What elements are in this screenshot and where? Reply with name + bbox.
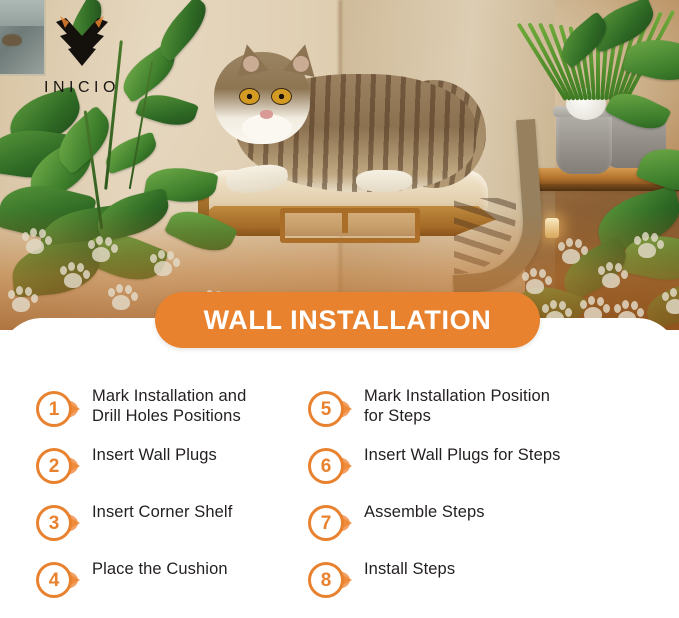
paw-print-icon: [556, 238, 586, 266]
badge-ring: 1: [36, 391, 72, 427]
step-label-line1: Assemble Steps: [364, 502, 485, 522]
step-item: 2Insert Wall Plugs: [0, 443, 302, 500]
step-number-badge: 8: [308, 562, 352, 600]
badge-ring: 3: [36, 505, 72, 541]
step-label: Place the Cushion: [80, 557, 228, 579]
paw-print-icon: [86, 236, 116, 264]
section-banner: WALL INSTALLATION: [155, 292, 540, 348]
step-label-line1: Install Steps: [364, 559, 455, 579]
cat-nose: [260, 110, 273, 119]
paw-print-icon: [520, 268, 550, 296]
cat-eye-right: [271, 88, 292, 105]
paw-print-icon: [6, 286, 36, 314]
badge-ring: 6: [308, 448, 344, 484]
cat-paw-front: [224, 162, 289, 196]
step-number: 5: [321, 400, 332, 419]
step-label-line1: Insert Wall Plugs: [92, 445, 217, 465]
brand-logo: INICIO: [36, 16, 128, 96]
step-number: 7: [321, 514, 332, 533]
step-label: Insert Wall Plugs for Steps: [352, 443, 561, 465]
badge-ring: 4: [36, 562, 72, 598]
paw-print-icon: [660, 288, 679, 316]
paw-print-icon: [148, 250, 178, 278]
step-number-badge: 1: [36, 391, 80, 429]
step-number: 6: [321, 457, 332, 476]
step-number-badge: 7: [308, 505, 352, 543]
cat-paw-rear: [356, 170, 412, 192]
step-item: 4Place the Cushion: [0, 557, 302, 614]
hero-photo: INICIO: [0, 0, 679, 330]
step-label: Assemble Steps: [352, 500, 485, 522]
brand-name: INICIO: [36, 79, 128, 97]
step-label: Insert Corner Shelf: [80, 500, 232, 522]
paw-print-icon: [58, 262, 88, 290]
step-label-line1: Mark Installation and: [92, 386, 246, 406]
step-label: Install Steps: [352, 557, 455, 579]
step-label: Mark Installation andDrill Holes Positio…: [80, 386, 246, 426]
step-label-line2: Drill Holes Positions: [92, 406, 246, 426]
step-number-badge: 5: [308, 391, 352, 429]
chevron-stack-logo-icon: [36, 16, 128, 72]
cat-ear-left: [231, 41, 269, 77]
paw-print-icon: [106, 284, 136, 312]
step-label-line1: Insert Wall Plugs for Steps: [364, 445, 561, 465]
step-number: 1: [49, 400, 60, 419]
step-label-line2: for Steps: [364, 406, 550, 426]
step-item: 6Insert Wall Plugs for Steps: [302, 443, 651, 500]
cat-head: [214, 52, 310, 144]
step-label: Mark Installation Positionfor Steps: [352, 386, 550, 426]
step-item: 5Mark Installation Positionfor Steps: [302, 386, 651, 443]
paw-print-icon: [632, 232, 662, 260]
cat-eye-left: [239, 88, 260, 105]
step-item: 1Mark Installation andDrill Holes Positi…: [0, 386, 302, 443]
step-item: 3Insert Corner Shelf: [0, 500, 302, 557]
step-label-line1: Mark Installation Position: [364, 386, 550, 406]
steps-list: 1Mark Installation andDrill Holes Positi…: [0, 386, 679, 614]
badge-ring: 7: [308, 505, 344, 541]
step-number: 3: [49, 514, 60, 533]
badge-ring: 8: [308, 562, 344, 598]
product-infographic: INICIO WALL INSTALLATION 1Mark Installat…: [0, 0, 679, 618]
step-number-badge: 6: [308, 448, 352, 486]
step-label-line1: Insert Corner Shelf: [92, 502, 232, 522]
step-number-badge: 2: [36, 448, 80, 486]
badge-ring: 5: [308, 391, 344, 427]
step-item: 7Assemble Steps: [302, 500, 651, 557]
cat-ear-right: [283, 41, 321, 77]
step-number: 8: [321, 571, 332, 590]
banner-title: WALL INSTALLATION: [204, 307, 492, 334]
paw-print-icon: [596, 262, 626, 290]
badge-ring: 2: [36, 448, 72, 484]
step-number: 4: [49, 571, 60, 590]
paw-print-icon: [20, 228, 50, 256]
step-number-badge: 3: [36, 505, 80, 543]
step-label-line1: Place the Cushion: [92, 559, 228, 579]
step-number-badge: 4: [36, 562, 80, 600]
step-number: 2: [49, 457, 60, 476]
step-item: 8Install Steps: [302, 557, 651, 614]
step-label: Insert Wall Plugs: [80, 443, 217, 465]
